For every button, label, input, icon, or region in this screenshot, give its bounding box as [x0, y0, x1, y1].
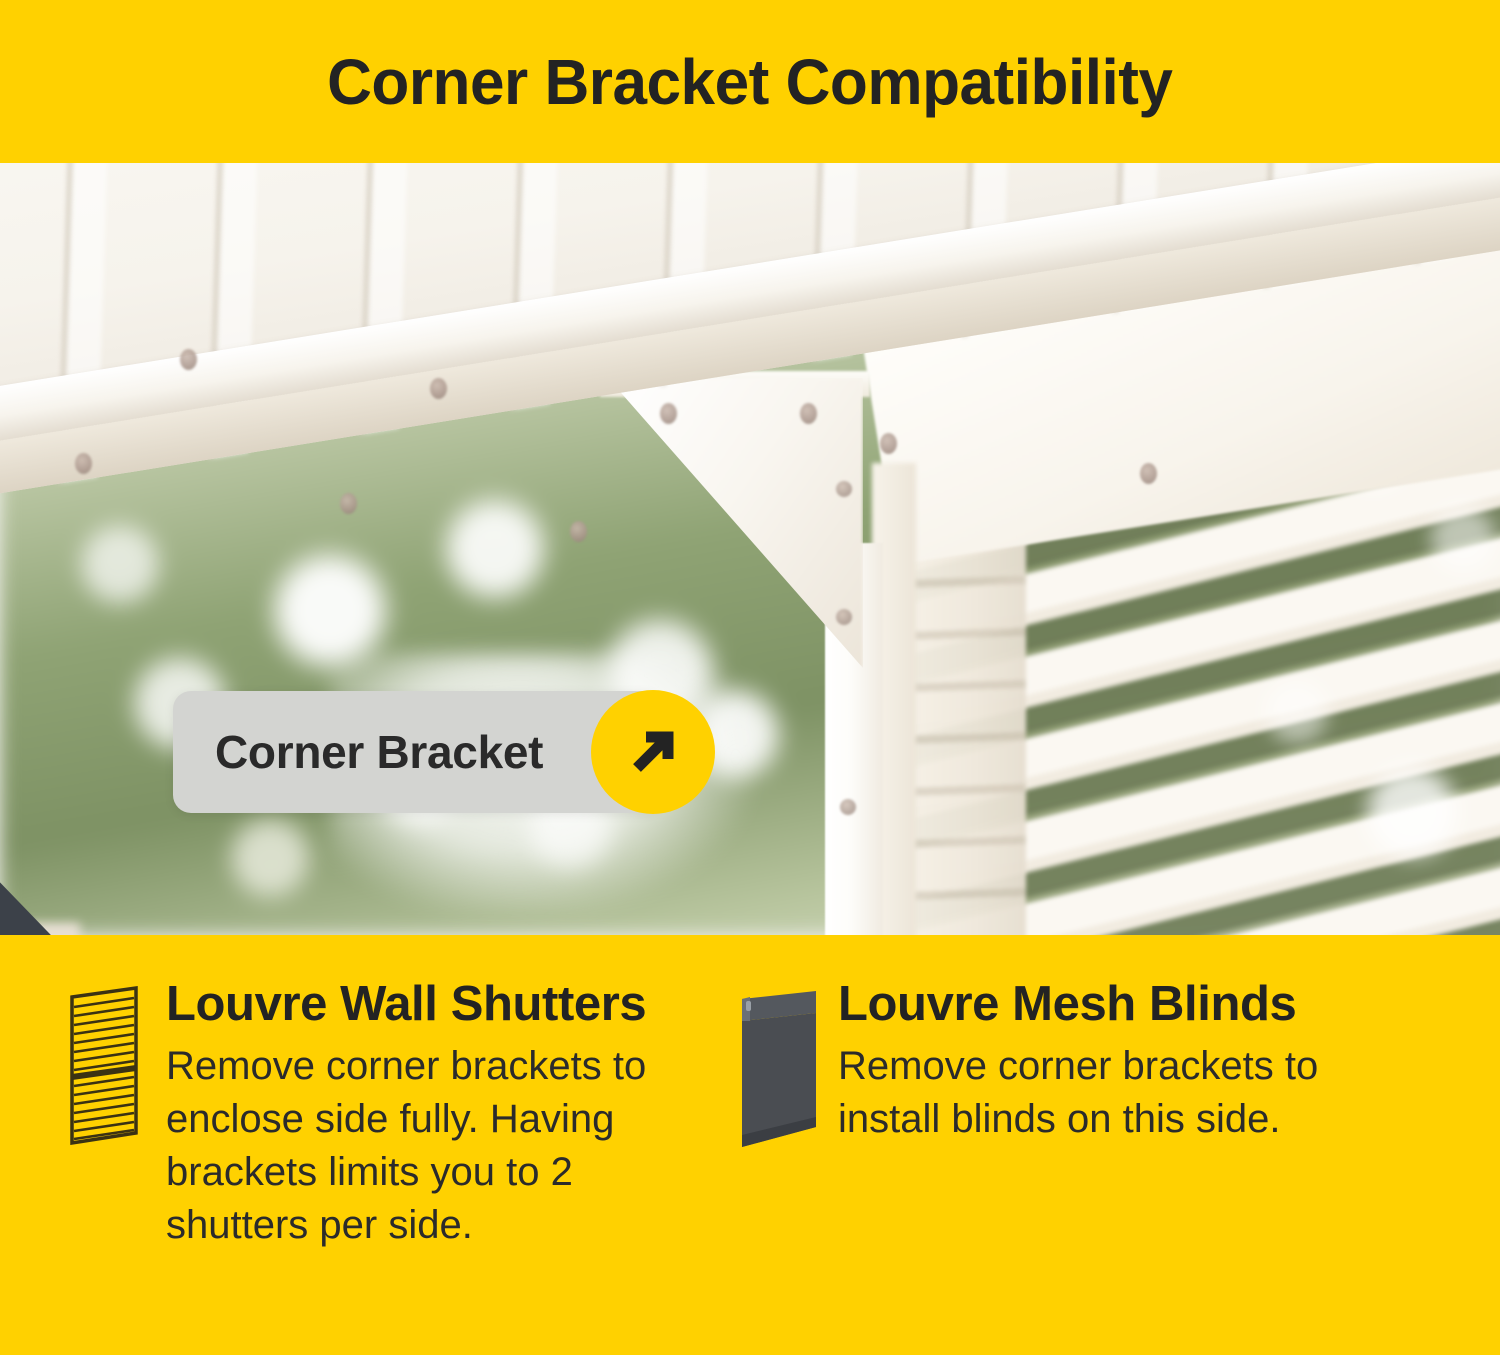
feature-body: Remove corner brackets to install blinds…: [838, 1040, 1378, 1146]
roof-screw: [800, 403, 817, 424]
roller-blind-icon: [728, 979, 824, 1151]
page-title: Corner Bracket Compatibility: [327, 50, 1172, 114]
feature-body: Remove corner brackets to enclose side f…: [166, 1040, 706, 1251]
feature-louvre-wall-shutters: Louvre Wall Shutters Remove corner brack…: [0, 979, 720, 1355]
bracket-screw: [840, 799, 856, 815]
bracket-screw: [836, 481, 852, 497]
roof-screw: [1140, 463, 1157, 484]
feature-louvre-mesh-blinds: Louvre Mesh Blinds Remove corner bracket…: [720, 979, 1420, 1355]
feature-text-block: Louvre Wall Shutters Remove corner brack…: [152, 979, 706, 1252]
roof-screw: [340, 493, 357, 514]
feature-title: Louvre Mesh Blinds: [838, 979, 1378, 1030]
roof-screw: [880, 433, 897, 454]
bracket-screw: [836, 609, 852, 625]
header-banner: Corner Bracket Compatibility: [0, 0, 1500, 163]
roof-screw: [570, 521, 587, 542]
corner-bracket-callout[interactable]: Corner Bracket: [173, 691, 663, 813]
roof-screw: [660, 403, 677, 424]
feature-text-block: Louvre Mesh Blinds Remove corner bracket…: [824, 979, 1378, 1146]
callout-label: Corner Bracket: [215, 725, 543, 779]
roof-screw: [75, 453, 92, 474]
roof-screw: [180, 349, 197, 370]
louvre-shutter-icon: [56, 979, 152, 1147]
hero-photo: Corner Bracket: [0, 163, 1500, 935]
feature-title: Louvre Wall Shutters: [166, 979, 706, 1030]
infographic-root: Corner Bracket Compatibility: [0, 0, 1500, 1355]
arrow-up-right-icon[interactable]: [591, 690, 715, 814]
features-panel: Louvre Wall Shutters Remove corner brack…: [0, 935, 1500, 1355]
roof-screw: [430, 378, 447, 399]
